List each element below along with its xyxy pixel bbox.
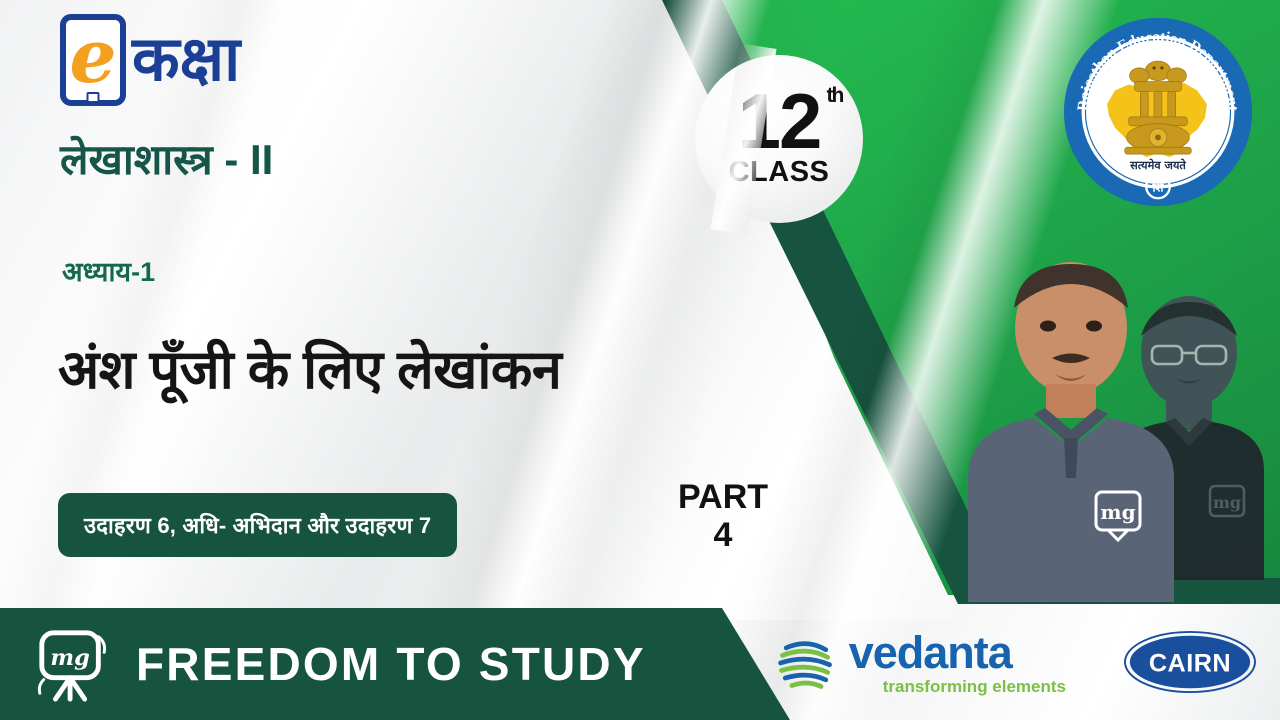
svg-text:mg: mg — [1213, 493, 1241, 512]
svg-text:mg: mg — [1100, 500, 1135, 524]
part-indicator: PART 4 — [663, 478, 783, 554]
vedanta-logo: vedanta transforming elements — [773, 629, 1066, 695]
class-number: 12 — [738, 77, 821, 165]
vedanta-globe-icon — [773, 629, 839, 695]
class-ordinal: th — [827, 87, 843, 105]
class-number-wrap: 12 th — [738, 89, 821, 155]
brand-letter-e: e — [69, 20, 116, 94]
brand-name: कक्षा — [132, 29, 240, 91]
instructor-photos: mg mg — [930, 230, 1280, 602]
cairn-wordmark: CAIRN — [1149, 650, 1231, 678]
instructor-front: mg — [956, 242, 1186, 602]
ekaksha-logo: e कक्षा — [60, 14, 240, 106]
cairn-logo: CAIRN — [1122, 629, 1258, 695]
part-label: PART — [663, 478, 783, 516]
chapter-label: अध्याय-1 — [62, 252, 155, 289]
video-thumbnail-slide: e कक्षा लेखाशास्त्र - II 12 th CLASS Raj… — [0, 0, 1280, 720]
vedanta-tagline: transforming elements — [883, 678, 1066, 695]
footer-banner: mg FREEDOM TO STUDY — [0, 608, 790, 720]
mg-easel-icon: mg — [34, 625, 112, 703]
rajasthan-education-department-emblem: Rajasthan Education Department — [1060, 14, 1256, 210]
lesson-title: अंश पूँजी के लिए लेखांकन — [58, 330, 561, 404]
emblem-bottom-mark: शि — [1151, 180, 1164, 194]
emblem-motto: सत्यमेव जयते — [1129, 158, 1186, 172]
tablet-icon: e — [60, 14, 126, 106]
topic-chip: उदाहरण 6, अधि- अभिदान और उदाहरण 7 — [58, 493, 457, 557]
sponsor-logos: vedanta transforming elements CAIRN — [773, 612, 1258, 712]
subject-title: लेखाशास्त्र - II — [60, 130, 273, 187]
part-number: 4 — [663, 516, 783, 554]
vedanta-wordmark: vedanta — [849, 630, 1012, 675]
footer-tagline: FREEDOM TO STUDY — [136, 637, 646, 691]
class-badge: 12 th CLASS — [695, 55, 863, 223]
svg-text:mg: mg — [50, 645, 89, 671]
